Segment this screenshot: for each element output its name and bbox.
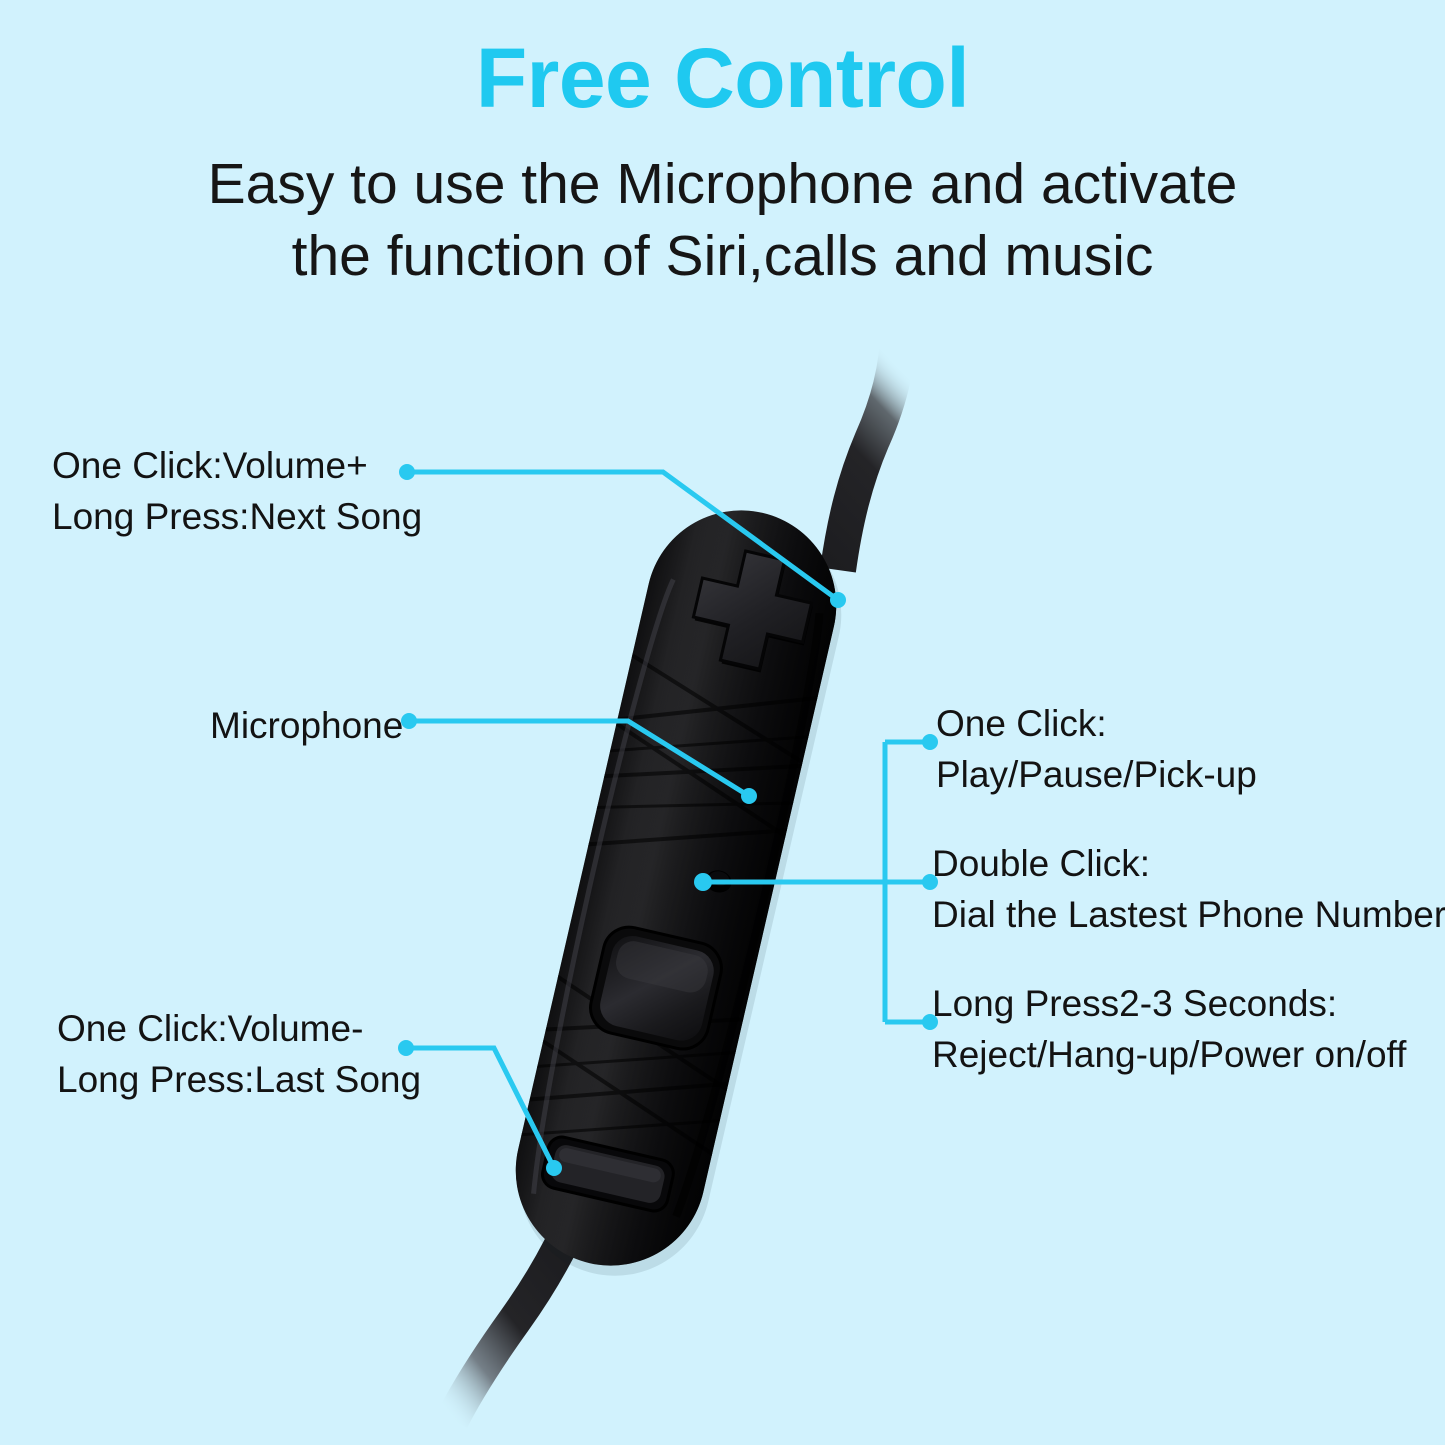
callout-volume-down-line-2: Long Press:Last Song: [57, 1054, 421, 1105]
callout-microphone: Microphone: [210, 700, 403, 751]
callout-double-click: Double Click: Dial the Lastest Phone Num…: [932, 838, 1445, 940]
remote-body: [492, 491, 970, 1320]
callout-play-pause: One Click: Play/Pause/Pick-up: [936, 698, 1257, 800]
callout-play-pause-line-1: One Click:: [936, 698, 1257, 749]
infographic-canvas: Free Control Easy to use the Microphone …: [0, 0, 1445, 1445]
callout-volume-down: One Click:Volume- Long Press:Last Song: [57, 1003, 421, 1105]
callout-long-press-line-2: Reject/Hang-up/Power on/off: [932, 1029, 1406, 1080]
callout-volume-down-line-1: One Click:Volume-: [57, 1003, 421, 1054]
upper-cable: [838, 318, 898, 570]
callout-volume-up-line-2: Long Press:Next Song: [52, 491, 422, 542]
callout-double-click-line-2: Dial the Lastest Phone Number: [932, 889, 1445, 940]
callout-volume-up-line-1: One Click:Volume+: [52, 440, 422, 491]
callout-play-pause-line-2: Play/Pause/Pick-up: [936, 749, 1257, 800]
callout-long-press-line-1: Long Press2-3 Seconds:: [932, 978, 1406, 1029]
callout-double-click-line-1: Double Click:: [932, 838, 1445, 889]
callout-volume-up: One Click:Volume+ Long Press:Next Song: [52, 440, 422, 542]
callout-long-press: Long Press2-3 Seconds: Reject/Hang-up/Po…: [932, 978, 1406, 1080]
callout-microphone-line-1: Microphone: [210, 700, 403, 751]
